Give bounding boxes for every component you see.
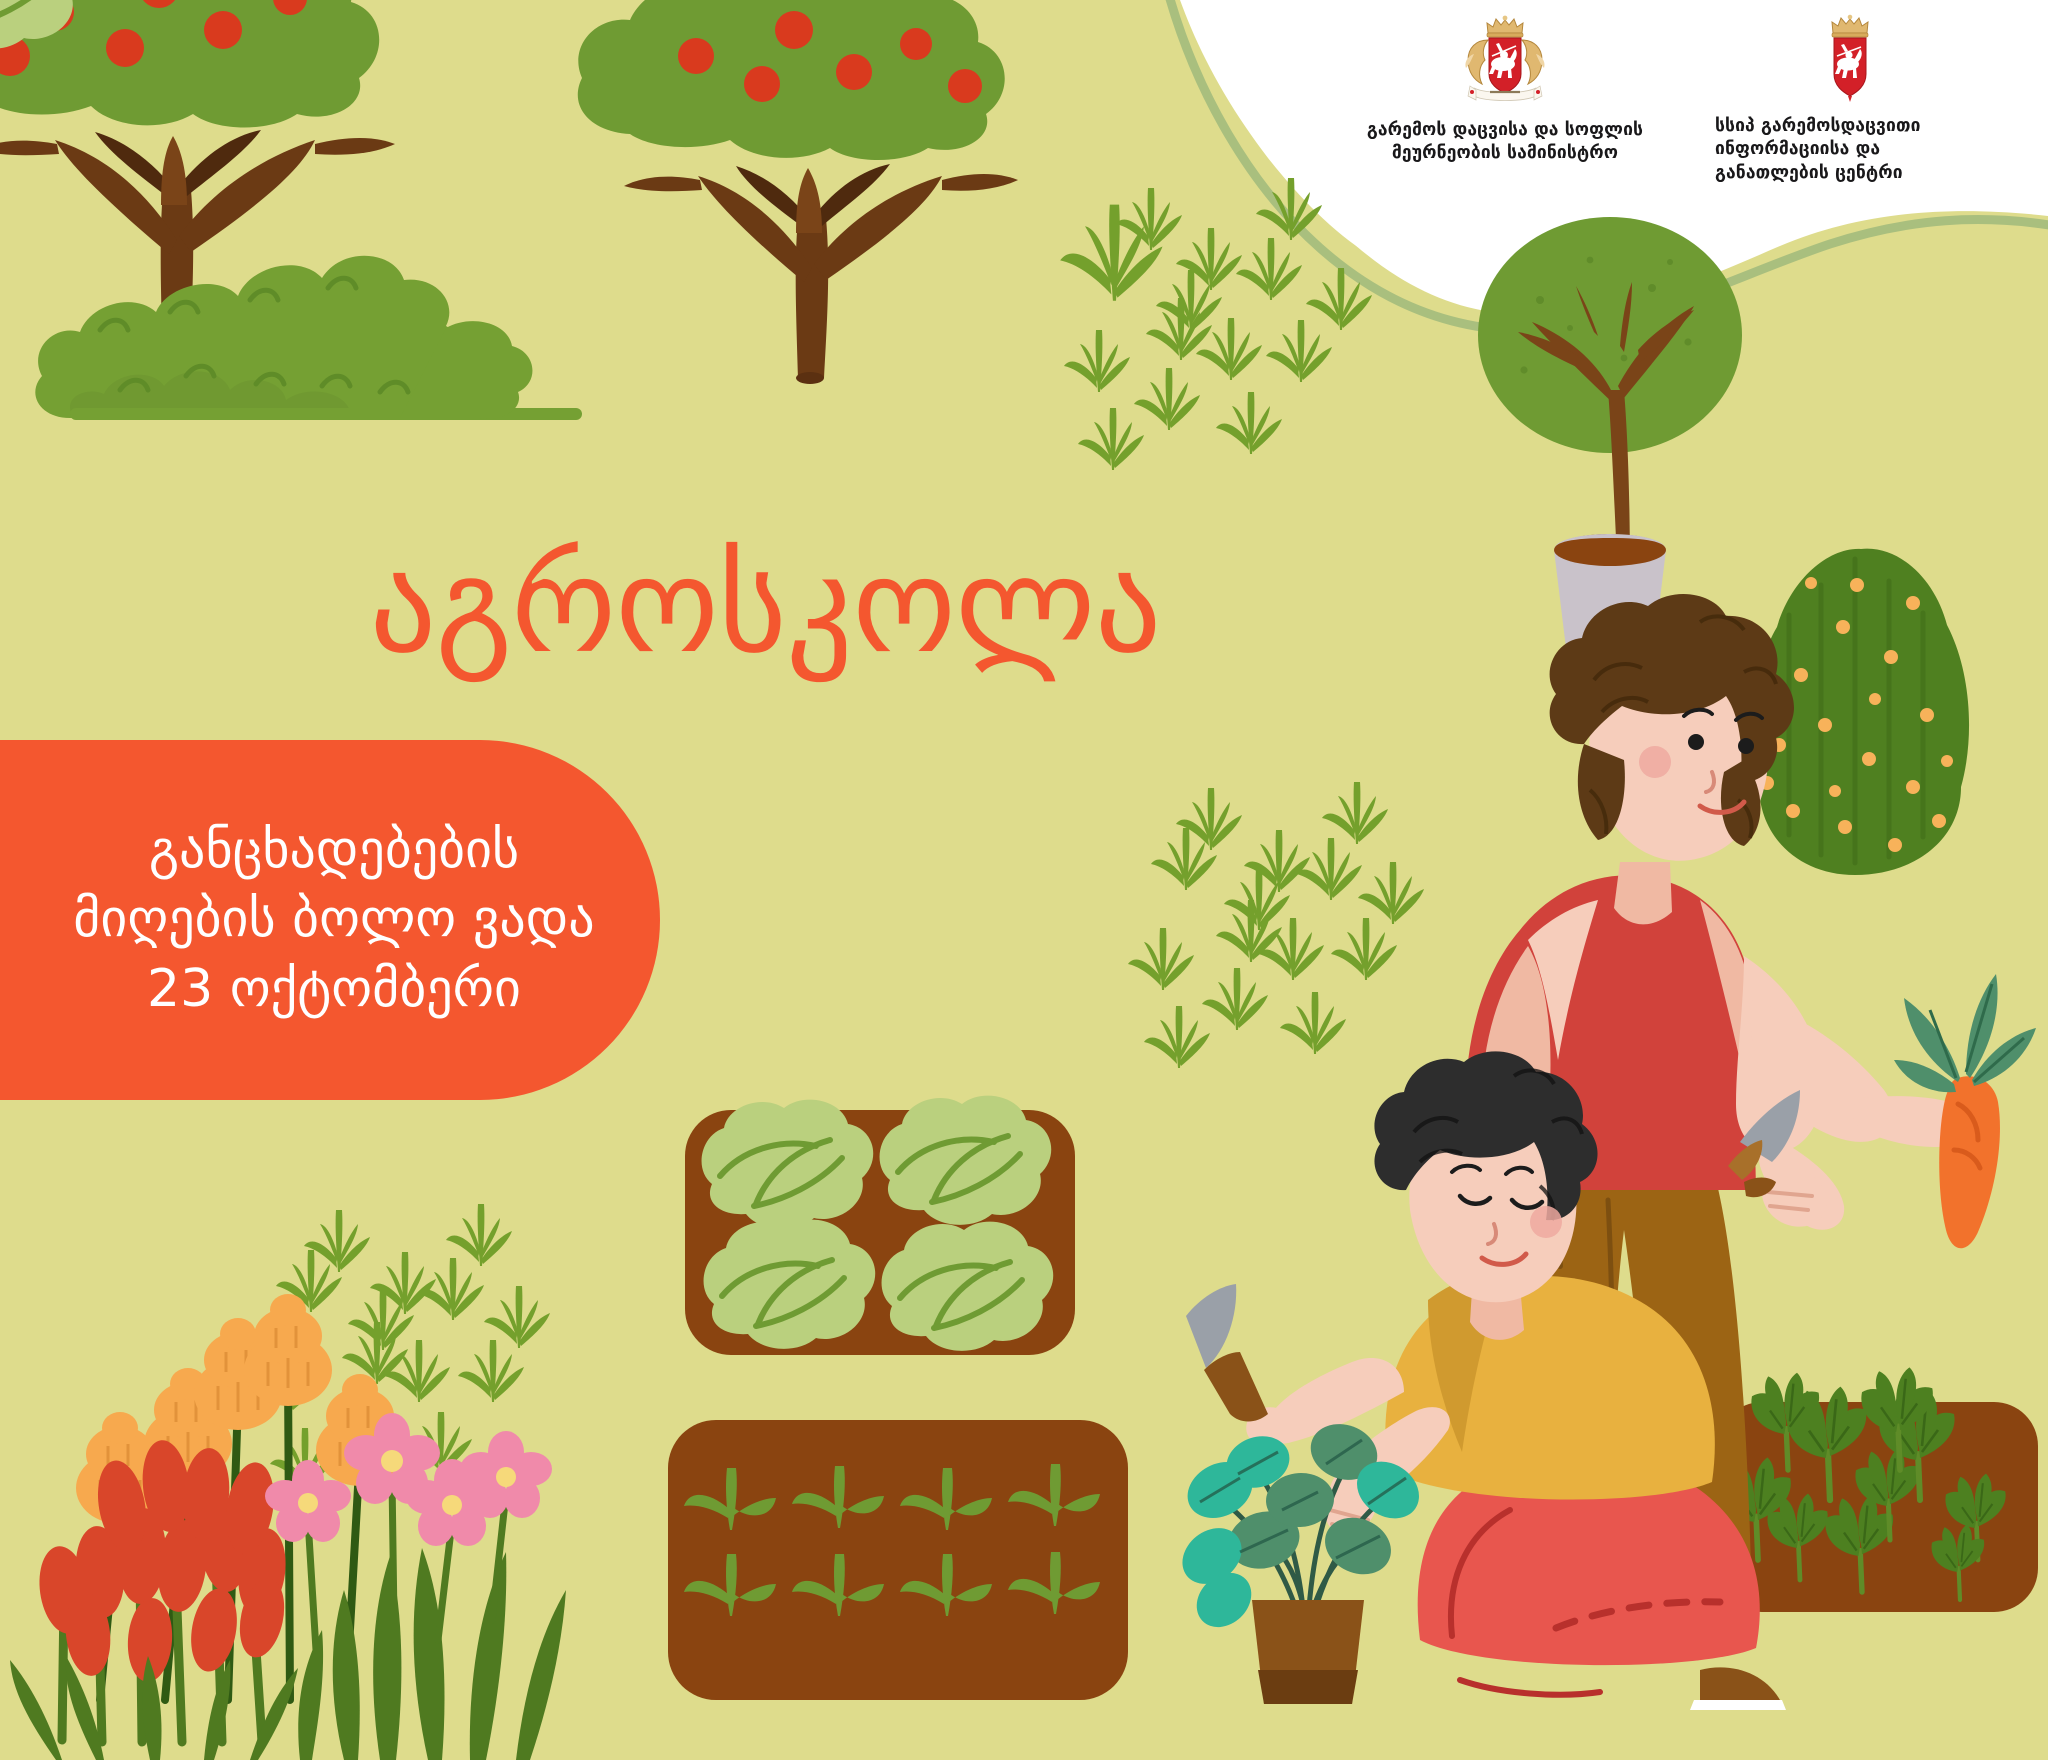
logo-ministry-of-environmental-protection-and-agriculture: გარემოს დაცვისა და სოფლის მეურნეობის სამ… — [1355, 14, 1655, 166]
georgia-coat-of-arms-supported-icon — [1462, 14, 1548, 110]
sprout-bed — [668, 1420, 1128, 1700]
logo-ministry-caption: გარემოს დაცვისა და სოფლის მეურნეობის სამ… — [1367, 119, 1643, 166]
page-title: აგროსკოლა — [0, 540, 1530, 672]
poster-canvas: აგროსკოლა განცხადებების მიღების ბოლო ვად… — [0, 0, 2048, 1760]
deadline-banner-text: განცხადებების მიღების ბოლო ვადა 23 ოქტომ… — [15, 816, 604, 1023]
standing-woman-head — [1550, 594, 1794, 861]
deadline-banner: განცხადებების მიღების ბოლო ვადა 23 ოქტომ… — [0, 740, 660, 1100]
header-logo-block: გარემოს დაცვისა და სოფლის მეურნეობის სამ… — [1355, 0, 2048, 214]
leafy-bed-right — [1718, 1367, 2038, 1612]
logo-centre-caption: სსიპ გარემოსდაცვითი ინფორმაციისა და განა… — [1715, 115, 1985, 185]
georgia-shield-crown-icon — [1823, 14, 1877, 106]
logo-environmental-information-and-education-centre: სსიპ გარემოსდაცვითი ინფორმაციისა და განა… — [1715, 14, 1985, 185]
